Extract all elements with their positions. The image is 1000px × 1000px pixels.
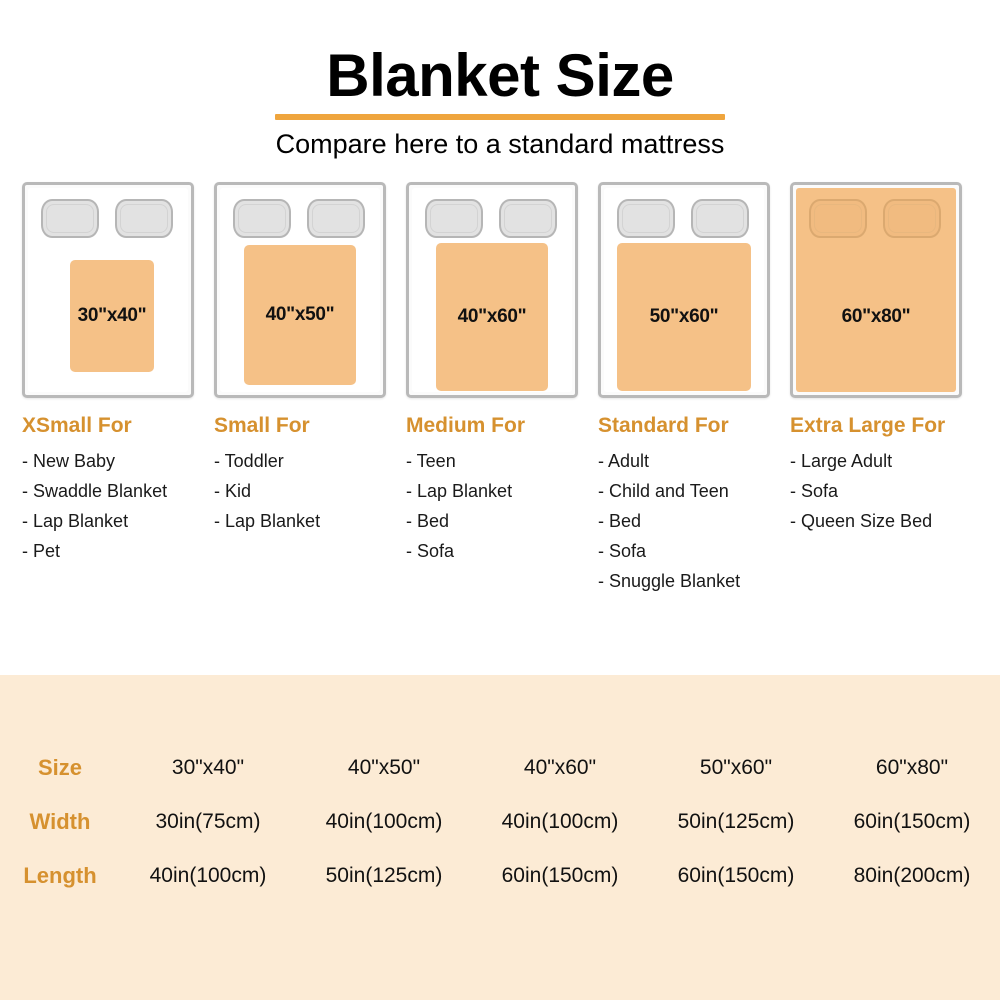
bed-diagram-extra-large: 60"x80" <box>790 182 962 398</box>
row-header-width: Width <box>0 795 120 849</box>
list-item: - Sofa <box>790 476 972 506</box>
list-item: - Large Adult <box>790 446 972 476</box>
use-case-list: - Teen - Lap Blanket - Bed - Sofa <box>406 446 588 566</box>
category-title: Medium For <box>406 414 588 438</box>
category-title: XSmall For <box>22 414 204 438</box>
blanket-overlay: 40"x50" <box>244 245 356 385</box>
specification-table: Size 30"x40" 40"x50" 40"x60" 50"x60" 60"… <box>0 741 1000 903</box>
table-cell: 60in(150cm) <box>824 795 1000 849</box>
size-column-extra-large: 60"x80" Extra Large For - Large Adult - … <box>790 182 982 536</box>
list-item: - New Baby <box>22 446 204 476</box>
use-case-list: - Toddler - Kid - Lap Blanket <box>214 446 396 536</box>
table-cell: 50"x60" <box>648 741 824 795</box>
row-header-size: Size <box>0 741 120 795</box>
table-cell: 80in(200cm) <box>824 849 1000 903</box>
bed-diagram-standard: 50"x60" <box>598 182 770 398</box>
list-item: - Snuggle Blanket <box>598 566 780 596</box>
page-title: Blanket Size <box>0 46 1000 106</box>
use-case-list: - New Baby - Swaddle Blanket - Lap Blank… <box>22 446 204 566</box>
pillow-icon-right <box>307 199 365 238</box>
size-column-medium: 40"x60" Medium For - Teen - Lap Blanket … <box>406 182 598 566</box>
category-title: Extra Large For <box>790 414 972 438</box>
specification-panel: Size 30"x40" 40"x50" 40"x60" 50"x60" 60"… <box>0 675 1000 1000</box>
pillow-icon-left <box>233 199 291 238</box>
list-item: - Pet <box>22 536 204 566</box>
list-item: - Bed <box>598 506 780 536</box>
list-item: - Lap Blanket <box>214 506 396 536</box>
table-row-length: Length 40in(100cm) 50in(125cm) 60in(150c… <box>0 849 1000 903</box>
list-item: - Teen <box>406 446 588 476</box>
list-item: - Adult <box>598 446 780 476</box>
page-header: Blanket Size Compare here to a standard … <box>0 0 1000 160</box>
list-item: - Lap Blanket <box>22 506 204 536</box>
table-cell: 40"x50" <box>296 741 472 795</box>
table-cell: 50in(125cm) <box>648 795 824 849</box>
blanket-overlay: 30"x40" <box>70 260 154 372</box>
list-item: - Lap Blanket <box>406 476 588 506</box>
table-cell: 30in(75cm) <box>120 795 296 849</box>
category-title: Small For <box>214 414 396 438</box>
pillow-icon-right <box>499 199 557 238</box>
size-comparison-columns: 30"x40" XSmall For - New Baby - Swaddle … <box>0 182 1000 596</box>
table-cell: 40in(100cm) <box>120 849 296 903</box>
list-item: - Swaddle Blanket <box>22 476 204 506</box>
list-item: - Sofa <box>598 536 780 566</box>
list-item: - Toddler <box>214 446 396 476</box>
blanket-overlay: 40"x60" <box>436 243 548 391</box>
list-item: - Bed <box>406 506 588 536</box>
pillow-icon-right <box>883 199 941 238</box>
pillow-icon-left <box>425 199 483 238</box>
size-column-xsmall: 30"x40" XSmall For - New Baby - Swaddle … <box>22 182 214 566</box>
pillow-icon-left <box>809 199 867 238</box>
table-cell: 60"x80" <box>824 741 1000 795</box>
blanket-overlay: 50"x60" <box>617 243 751 391</box>
bed-diagram-small: 40"x50" <box>214 182 386 398</box>
list-item: - Child and Teen <box>598 476 780 506</box>
table-cell: 40"x60" <box>472 741 648 795</box>
list-item: - Sofa <box>406 536 588 566</box>
size-column-standard: 50"x60" Standard For - Adult - Child and… <box>598 182 790 596</box>
table-row-size: Size 30"x40" 40"x50" 40"x60" 50"x60" 60"… <box>0 741 1000 795</box>
size-column-small: 40"x50" Small For - Toddler - Kid - Lap … <box>214 182 406 536</box>
use-case-list: - Large Adult - Sofa - Queen Size Bed <box>790 446 972 536</box>
pillow-icon-right <box>691 199 749 238</box>
bed-diagram-medium: 40"x60" <box>406 182 578 398</box>
table-row-width: Width 30in(75cm) 40in(100cm) 40in(100cm)… <box>0 795 1000 849</box>
table-cell: 30"x40" <box>120 741 296 795</box>
list-item: - Queen Size Bed <box>790 506 972 536</box>
table-cell: 60in(150cm) <box>472 849 648 903</box>
pillow-icon-left <box>41 199 99 238</box>
use-case-list: - Adult - Child and Teen - Bed - Sofa - … <box>598 446 780 596</box>
page-subtitle: Compare here to a standard mattress <box>0 130 1000 160</box>
table-cell: 40in(100cm) <box>296 795 472 849</box>
pillow-icon-left <box>617 199 675 238</box>
table-cell: 40in(100cm) <box>472 795 648 849</box>
blanket-overlay: 60"x80" <box>796 243 956 391</box>
table-cell: 60in(150cm) <box>648 849 824 903</box>
pillow-icon-right <box>115 199 173 238</box>
list-item: - Kid <box>214 476 396 506</box>
title-underline-rule <box>275 114 725 120</box>
table-cell: 50in(125cm) <box>296 849 472 903</box>
row-header-length: Length <box>0 849 120 903</box>
bed-diagram-xsmall: 30"x40" <box>22 182 194 398</box>
category-title: Standard For <box>598 414 780 438</box>
